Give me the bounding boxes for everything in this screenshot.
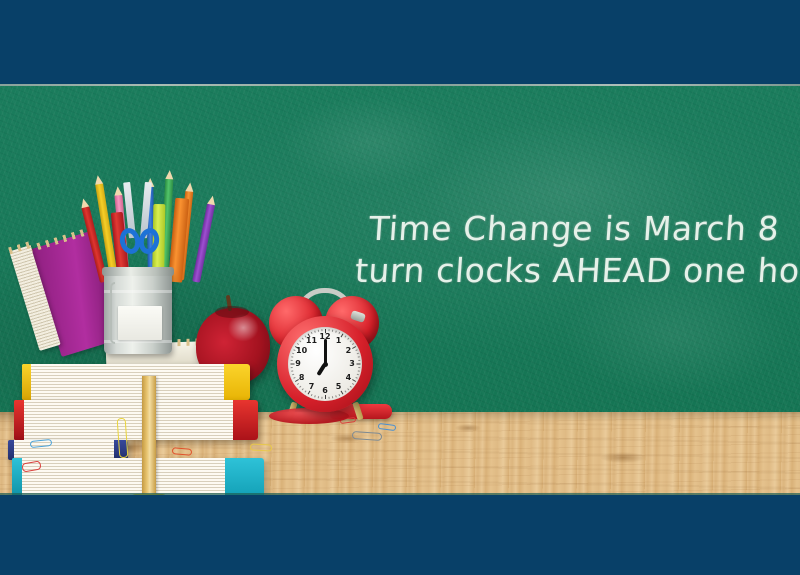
clock-tick — [350, 340, 352, 342]
clock-tick — [358, 370, 360, 371]
clock-tick — [352, 383, 354, 385]
message-line-2: turn clocks AHEAD one hour — [354, 250, 797, 292]
measuring-tape-strip — [142, 376, 156, 504]
clock-tick — [335, 331, 337, 333]
book-spine — [14, 400, 24, 440]
wood-knot — [600, 452, 646, 463]
clock-tick — [350, 386, 352, 388]
book-spine — [22, 364, 31, 400]
message-line-1: Time Change is March 8 — [368, 208, 797, 250]
notebook-spiral-binding — [28, 227, 91, 252]
alarm-clock: 121234567891011 — [263, 290, 387, 440]
clock-tick — [297, 383, 299, 385]
clock-foot-right — [352, 402, 363, 421]
clock-tick — [358, 356, 360, 357]
clock-tick — [328, 397, 329, 399]
clock-tick — [314, 331, 316, 333]
pencil-cup-label — [118, 306, 162, 340]
bottom-frame-bar — [0, 495, 800, 575]
clock-tick — [347, 388, 349, 390]
chalk-message: Time Change is March 8 turn clocks AHEAD… — [355, 208, 795, 292]
clock-tick — [358, 360, 360, 361]
clock-tick — [292, 353, 294, 355]
clock-tick — [292, 374, 294, 376]
clock-tick — [314, 395, 316, 397]
book-red — [14, 400, 258, 440]
clock-numeral-1: 1 — [333, 336, 345, 345]
clock-tick — [335, 395, 337, 397]
clock-tick — [358, 367, 360, 368]
clock-tick — [332, 330, 333, 332]
clock-tick — [302, 338, 304, 340]
pencil-cup — [104, 270, 172, 354]
clock-tick — [344, 335, 346, 337]
clock-tick — [291, 356, 293, 357]
clock-tick — [357, 353, 359, 355]
clock-tick — [299, 386, 301, 388]
clock-numeral-6: 6 — [319, 386, 331, 395]
clock-tick — [311, 394, 313, 396]
pencil-purple — [192, 203, 215, 283]
notebook-spiral-binding — [8, 241, 31, 254]
clock-center-pin — [323, 362, 328, 367]
clock-tick — [355, 377, 357, 379]
clock-numeral-2: 2 — [342, 346, 354, 355]
clock-tick — [321, 329, 322, 331]
clock-numeral-4: 4 — [342, 373, 354, 382]
clock-face: 121234567891011 — [288, 327, 362, 401]
clock-tick — [299, 340, 301, 342]
pencil-cup-handle — [110, 282, 115, 344]
clock-tick — [332, 396, 333, 398]
clock-tick — [291, 370, 293, 371]
clock-tick — [302, 388, 304, 390]
book-page-edges — [21, 400, 233, 440]
clock-tick — [355, 349, 357, 351]
clock-tick — [328, 329, 329, 331]
clock-numeral-9: 9 — [292, 359, 304, 368]
book-page-edges — [28, 364, 224, 400]
apple-stem-dimple — [215, 306, 249, 318]
pencil-cup-rim — [102, 267, 174, 276]
clock-tick — [318, 396, 319, 398]
clock-numeral-11: 11 — [306, 336, 318, 345]
book-navy — [8, 440, 128, 460]
clock-tick — [311, 332, 313, 334]
time-change-banner: Time Change is March 8 turn clocks AHEAD… — [0, 0, 800, 575]
clock-tick — [357, 374, 359, 376]
clock-tick — [338, 332, 340, 334]
clock-numeral-3: 3 — [346, 359, 358, 368]
clock-tick — [321, 397, 322, 399]
wood-knot — [455, 424, 481, 432]
top-frame-bar — [0, 0, 800, 86]
clock-numeral-5: 5 — [333, 382, 345, 391]
book-yellow — [22, 364, 250, 400]
clock-numeral-8: 8 — [296, 373, 308, 382]
clock-tick — [338, 394, 340, 396]
chalk-smudge — [560, 276, 790, 396]
clock-tick — [325, 395, 326, 399]
paperclip-gold — [250, 443, 272, 451]
clock-numeral-7: 7 — [306, 382, 318, 391]
clock-minute-hand — [324, 339, 327, 364]
clock-tick — [344, 390, 346, 392]
clock-body: 121234567891011 — [277, 316, 373, 412]
clock-tick — [347, 338, 349, 340]
clock-numeral-10: 10 — [296, 346, 308, 355]
